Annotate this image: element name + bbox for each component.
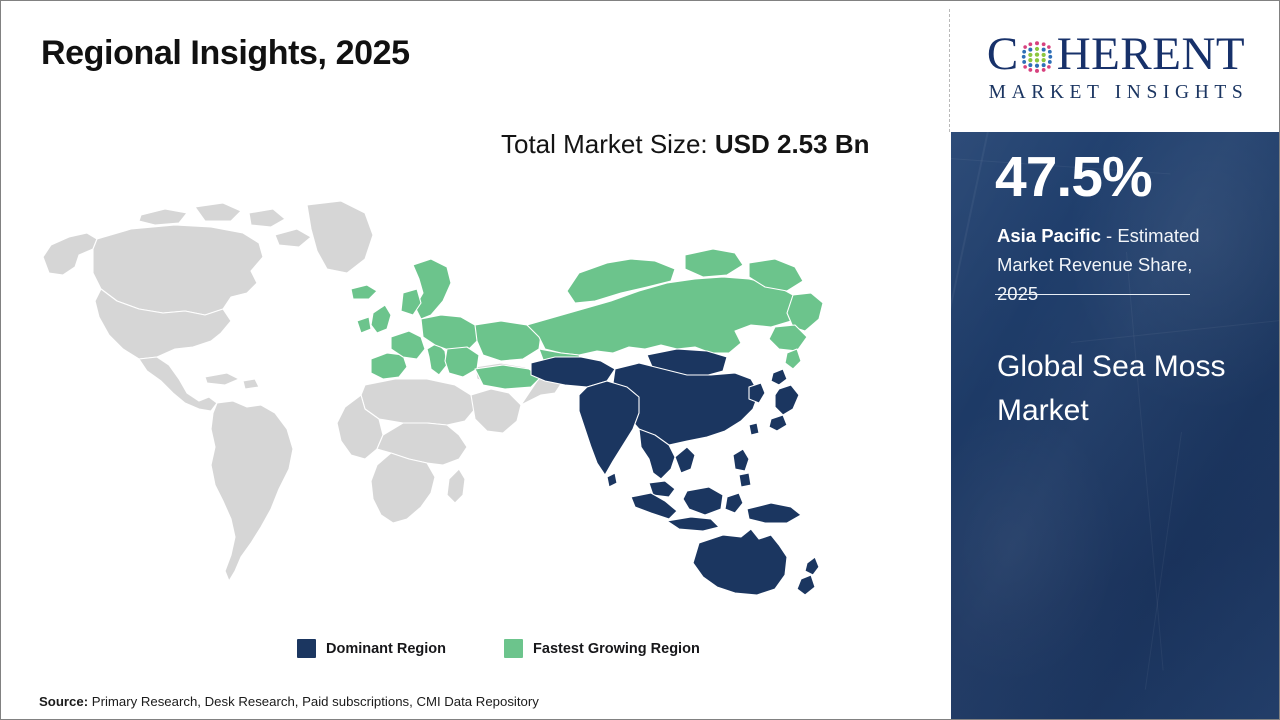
legend-swatch-fastest-growing-icon bbox=[504, 639, 523, 658]
source-label: Source: bbox=[39, 694, 88, 709]
legend-item-dominant: Dominant Region bbox=[297, 639, 446, 658]
panel-texture-streak bbox=[1126, 252, 1164, 671]
world-map bbox=[35, 197, 825, 597]
brand-logo: C bbox=[951, 1, 1280, 132]
logo-subtitle: MARKET INSIGHTS bbox=[984, 82, 1249, 104]
market-name: Global Sea Moss Market bbox=[997, 345, 1247, 434]
share-percentage: 47.5% bbox=[995, 149, 1152, 206]
map-legend: Dominant Region Fastest Growing Region bbox=[297, 639, 700, 658]
regional-insights-infographic: Regional Insights, 2025 Total Market Siz… bbox=[0, 0, 1280, 720]
legend-item-fastest-growing: Fastest Growing Region bbox=[504, 639, 700, 658]
total-market-size-value: USD 2.53 Bn bbox=[715, 129, 870, 159]
share-description: Asia Pacific - Estimated Market Revenue … bbox=[997, 222, 1237, 309]
total-market-size: Total Market Size: USD 2.53 Bn bbox=[501, 125, 901, 164]
panel-divider bbox=[995, 294, 1190, 295]
legend-label-dominant: Dominant Region bbox=[326, 641, 446, 657]
map-region-asia-pacific-dominant bbox=[531, 349, 819, 597]
vertical-dashed-divider bbox=[949, 9, 950, 132]
legend-swatch-dominant-icon bbox=[297, 639, 316, 658]
logo-wordmark: C bbox=[987, 30, 1245, 80]
page-title: Regional Insights, 2025 bbox=[41, 34, 410, 73]
legend-label-fastest-growing: Fastest Growing Region bbox=[533, 641, 700, 657]
source-note: Source: Primary Research, Desk Research,… bbox=[39, 694, 539, 709]
logo-letter-c: C bbox=[987, 31, 1019, 78]
left-content-pane: Regional Insights, 2025 Total Market Siz… bbox=[1, 1, 949, 720]
map-region-americas bbox=[43, 201, 373, 581]
panel-texture-streak bbox=[1071, 318, 1280, 343]
total-market-size-label: Total Market Size: bbox=[501, 129, 708, 159]
share-region-name: Asia Pacific bbox=[997, 225, 1101, 246]
stat-panel: 47.5% Asia Pacific - Estimated Market Re… bbox=[951, 132, 1280, 720]
logo-wordmark-text: HERENT bbox=[1057, 31, 1245, 78]
globe-dots-icon bbox=[1018, 38, 1056, 76]
panel-texture-streak bbox=[1145, 432, 1182, 690]
panel-texture-streak bbox=[951, 132, 992, 406]
source-text: Primary Research, Desk Research, Paid su… bbox=[88, 694, 539, 709]
